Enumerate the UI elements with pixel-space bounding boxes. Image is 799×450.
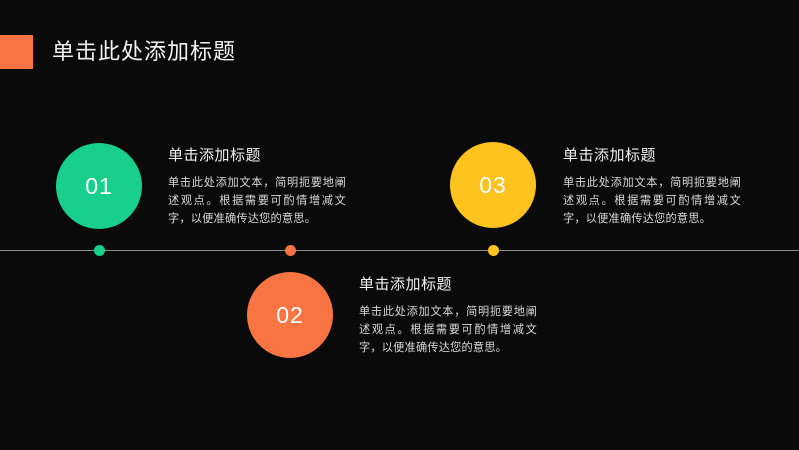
item-title-01[interactable]: 单击添加标题 — [168, 146, 346, 166]
number-bubble-01[interactable]: 01 — [56, 143, 142, 229]
timeline-dot-01 — [94, 245, 105, 256]
timeline-dot-02 — [285, 245, 296, 256]
slide-canvas: 单击此处添加标题 01 单击添加标题 单击此处添加文本，简明扼要地阐述观点。根据… — [0, 0, 799, 450]
item-title-02[interactable]: 单击添加标题 — [359, 275, 537, 295]
timeline-dot-03 — [488, 245, 499, 256]
page-title[interactable]: 单击此处添加标题 — [52, 39, 236, 65]
header-accent-square — [0, 35, 33, 69]
slide-header: 单击此处添加标题 — [0, 29, 236, 75]
timeline-axis — [0, 250, 799, 251]
item-body-01[interactable]: 单击此处添加文本，简明扼要地阐述观点。根据需要可酌情增减文字，以便准确传达您的意… — [168, 174, 346, 228]
text-block-02: 单击添加标题 单击此处添加文本，简明扼要地阐述观点。根据需要可酌情增减文字，以便… — [359, 275, 537, 357]
number-bubble-03[interactable]: 03 — [450, 142, 536, 228]
item-body-03[interactable]: 单击此处添加文本，简明扼要地阐述观点。根据需要可酌情增减文字，以便准确传达您的意… — [563, 174, 741, 228]
number-bubble-02[interactable]: 02 — [247, 272, 333, 358]
item-body-02[interactable]: 单击此处添加文本，简明扼要地阐述观点。根据需要可酌情增减文字，以便准确传达您的意… — [359, 303, 537, 357]
text-block-01: 单击添加标题 单击此处添加文本，简明扼要地阐述观点。根据需要可酌情增减文字，以便… — [168, 146, 346, 228]
item-title-03[interactable]: 单击添加标题 — [563, 146, 741, 166]
text-block-03: 单击添加标题 单击此处添加文本，简明扼要地阐述观点。根据需要可酌情增减文字，以便… — [563, 146, 741, 228]
